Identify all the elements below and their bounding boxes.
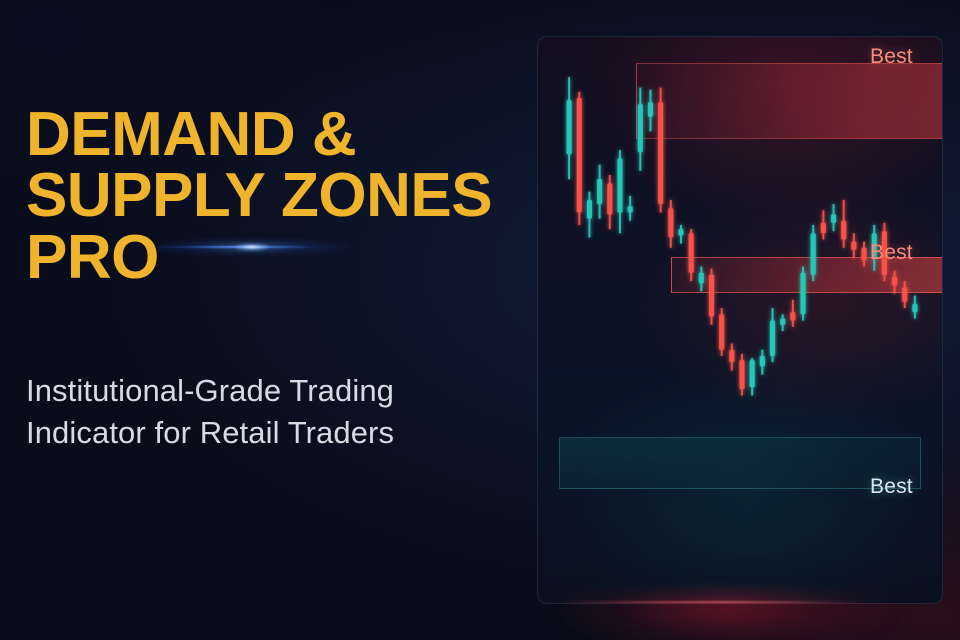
subhead-line-1: Institutional-Grade Trading xyxy=(26,370,546,412)
subhead-line-2: Indicator for Retail Traders xyxy=(26,412,546,454)
headline-line-2: Supply Zones xyxy=(26,165,526,226)
headline-line-3: Pro xyxy=(26,227,526,288)
promo-banner: Demand & Supply Zones Pro Institutional-… xyxy=(0,0,960,640)
headline-line-1: Demand & xyxy=(26,104,526,165)
candlestick-chart-panel: Best Best Best xyxy=(537,36,943,604)
page-subtitle: Institutional-Grade Trading Indicator fo… xyxy=(26,370,546,454)
demand-zone-1-label: Best xyxy=(870,475,913,499)
hero-text-block: Demand & Supply Zones Pro xyxy=(26,104,526,288)
chart-inner: Best Best Best xyxy=(538,37,942,603)
bottom-red-glow xyxy=(560,590,890,640)
supply-zone-1-label: Best xyxy=(870,45,913,69)
candlestick-series xyxy=(538,37,942,603)
supply-zone-2-label: Best xyxy=(870,241,913,265)
page-title: Demand & Supply Zones Pro xyxy=(26,104,526,288)
bottom-red-streak xyxy=(560,601,860,603)
